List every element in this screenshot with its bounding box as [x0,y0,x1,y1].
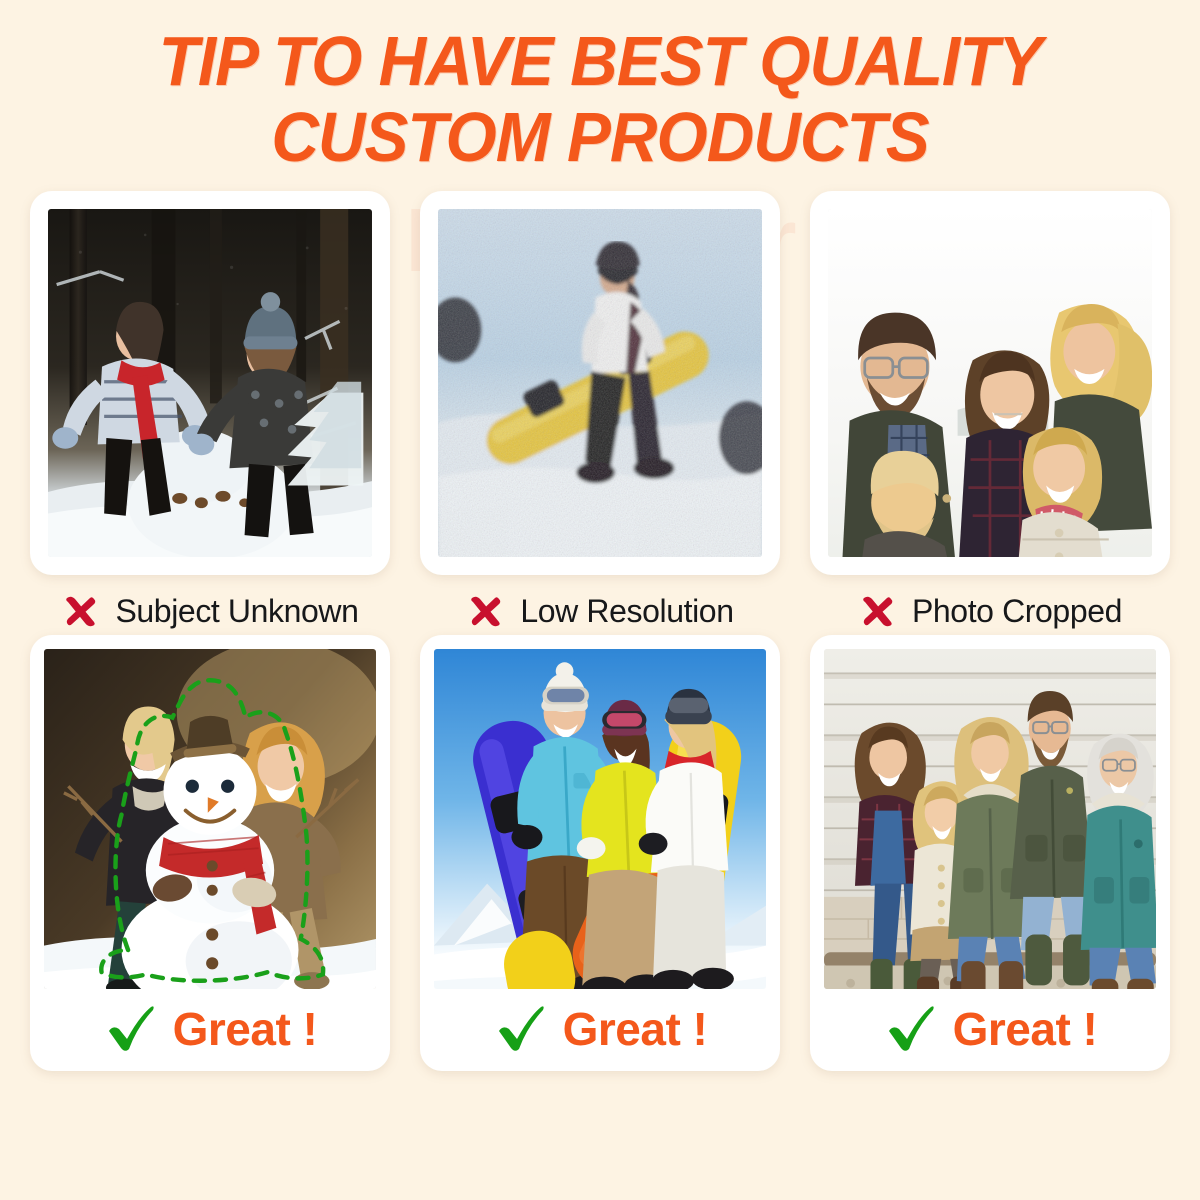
tip-cell-great-snowman: Great ! [30,635,390,1071]
tips-grid: Subject Unknown [0,191,1200,1071]
tip-label-great-1: Great ! [44,1001,376,1057]
lowres-snowboarder-illustration [438,209,762,557]
page-title: TIP TO HAVE BEST QUALITY CUSTOM PRODUCTS [36,0,1164,175]
red-x-icon [61,591,101,631]
photo-card [420,191,780,575]
red-x-icon [466,591,506,631]
red-x-icon [858,591,898,631]
cropped-family-illustration [828,209,1152,557]
photo-low-resolution [438,209,762,557]
tip-cell-subject-unknown: Subject Unknown [30,191,390,631]
photo-card: Great ! [420,635,780,1071]
green-check-icon [493,1001,549,1057]
photo-great-family [824,649,1156,989]
tip-label-text: Great ! [173,1002,318,1056]
tip-cell-photo-cropped: Photo Cropped [810,191,1170,631]
tip-label-great-2: Great ! [434,1001,766,1057]
photo-photo-cropped [828,209,1152,557]
page-title-line-2: CUSTOM PRODUCTS [36,100,1164,176]
page-title-line-1: TIP TO HAVE BEST QUALITY [36,24,1164,100]
photo-card: Great ! [810,635,1170,1071]
tip-cell-low-resolution: Low Resolution [420,191,780,631]
photo-subject-unknown [48,209,372,557]
snowboarders-illustration [434,649,766,989]
photo-great-snowman [44,649,376,989]
tip-label-text: Subject Unknown [115,593,358,630]
winter-forest-illustration [48,209,372,557]
tip-label-great-3: Great ! [824,1001,1156,1057]
tip-label-text: Photo Cropped [912,593,1122,630]
green-check-icon [883,1001,939,1057]
tip-label-text: Low Resolution [520,593,733,630]
tip-label-text: Great ! [953,1002,1098,1056]
family-wall-illustration [824,649,1156,989]
tip-cell-great-snowboarders: Great ! [420,635,780,1071]
tip-label-low-resolution: Low Resolution [420,591,780,631]
tip-label-photo-cropped: Photo Cropped [810,591,1170,631]
photo-great-snowboarders [434,649,766,989]
green-check-icon [103,1001,159,1057]
photo-card [810,191,1170,575]
tip-label-text: Great ! [563,1002,708,1056]
tip-cell-great-family: Great ! [810,635,1170,1071]
photo-card [30,191,390,575]
tip-label-subject-unknown: Subject Unknown [30,591,390,631]
snowman-cutout-illustration [44,649,376,989]
photo-card: Great ! [30,635,390,1071]
